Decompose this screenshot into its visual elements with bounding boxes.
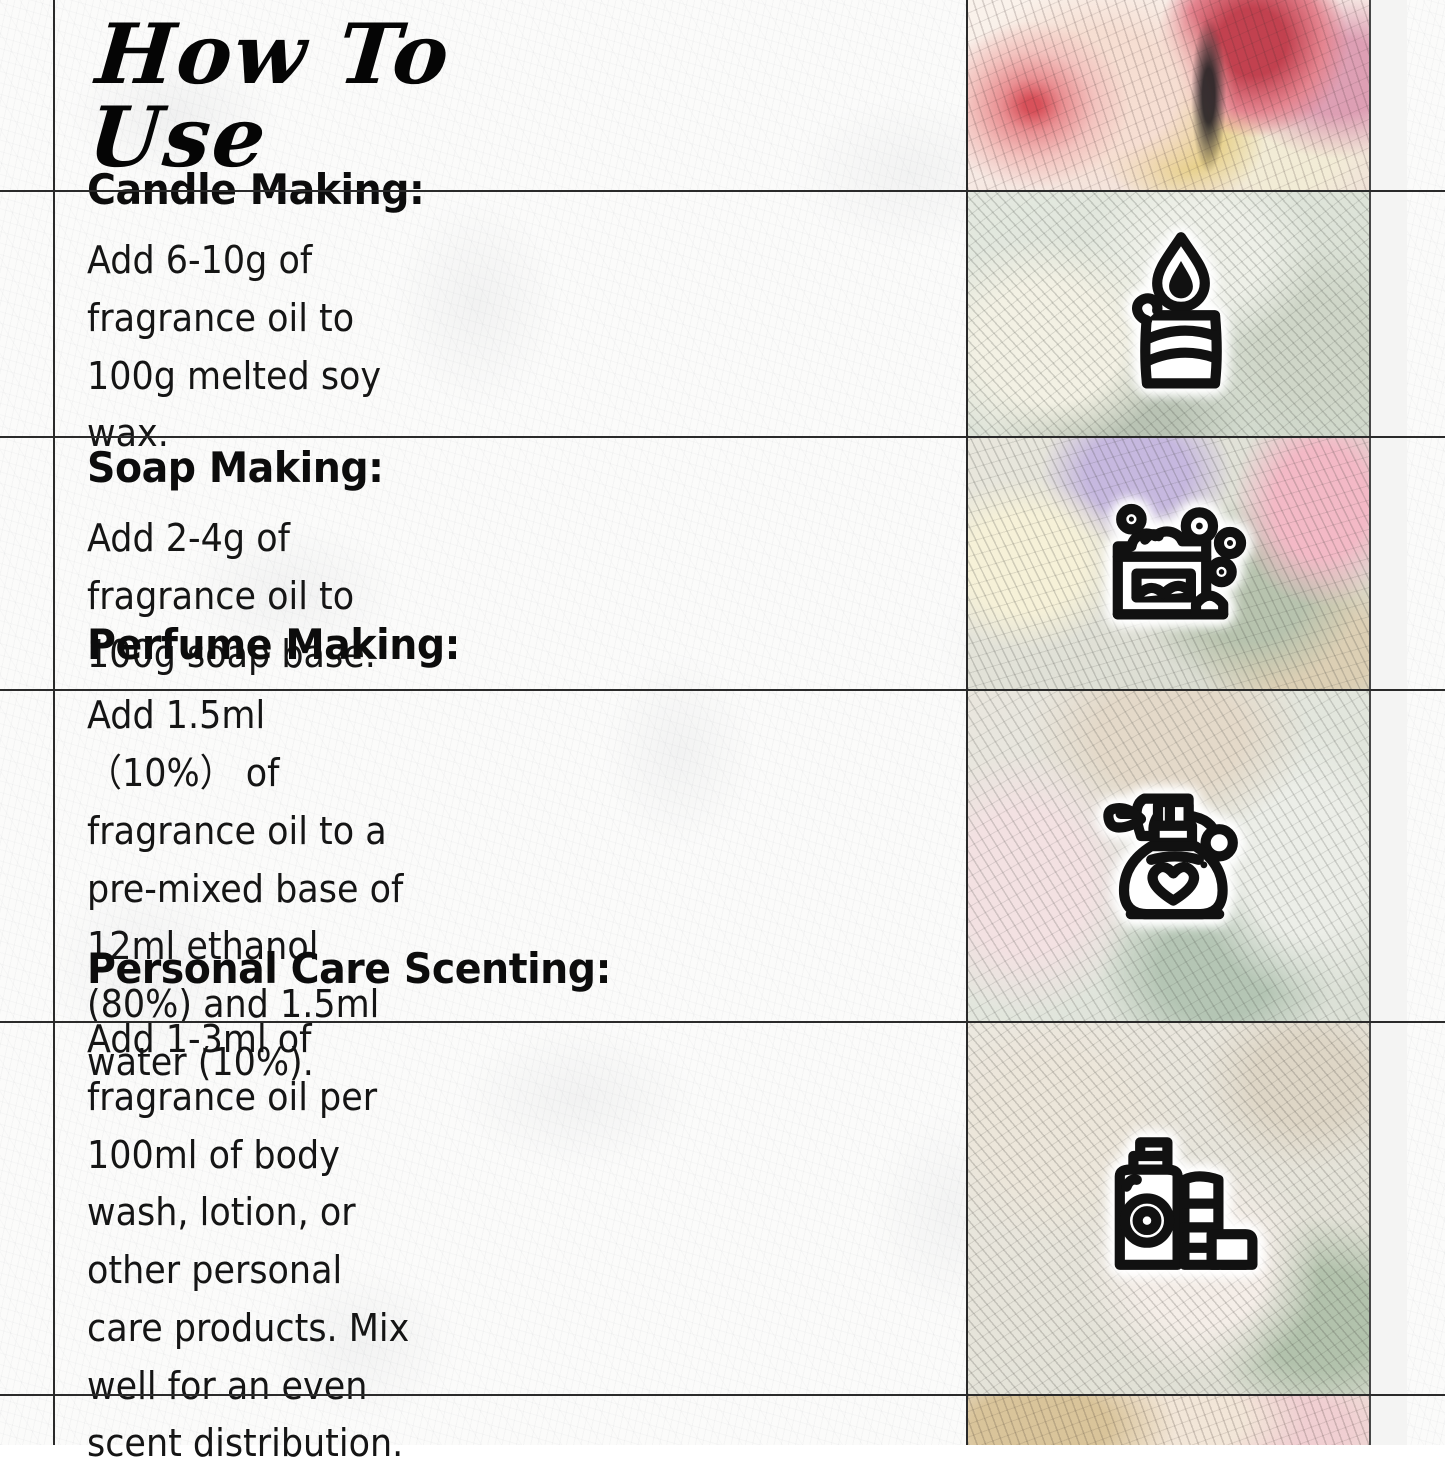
- divider-soap-bottom: [0, 689, 1445, 691]
- personal-care-scenting-text: Personal Care Scenting: Add 1-3ml of fra…: [53, 1022, 477, 1395]
- personal-care-bottles-icon: [1096, 1122, 1266, 1292]
- dried-petals-illustration: [968, 1395, 1407, 1445]
- soap-making-heading: Soap Making:: [87, 443, 427, 492]
- footer-image-cell: [968, 1395, 1407, 1445]
- perfume-image-cell: [968, 690, 1407, 1022]
- soap-bar-icon: [1094, 475, 1264, 645]
- page-title: How To Use: [86, 13, 457, 179]
- illustration-right-edge: [1369, 437, 1407, 690]
- candle-making-body: Add 6-10g of fragrance oil to 100g melte…: [87, 232, 420, 463]
- divider-perfume-bottom: [0, 1021, 1445, 1023]
- header-image-cell: [968, 0, 1407, 191]
- soap-image-cell: [968, 437, 1407, 690]
- header-title-cell: How To Use: [53, 0, 477, 191]
- perfume-making-heading: Perfume Making:: [87, 620, 427, 669]
- peony-and-leaves-illustration: [968, 1022, 1407, 1395]
- illustration-right-edge: [1369, 1395, 1407, 1445]
- illustration-right-edge: [1369, 1022, 1407, 1395]
- section-row-personal-care-scenting: Personal Care Scenting: Add 1-3ml of fra…: [0, 1022, 1445, 1395]
- footer-strip-row: [0, 1395, 1445, 1445]
- illustration-right-edge: [1369, 191, 1407, 437]
- divider-left-margin: [53, 0, 55, 1445]
- illustration-right-edge: [1369, 690, 1407, 1022]
- perfume-atomizer-icon: [1090, 768, 1260, 938]
- section-row-candle-making: Candle Making: Add 6-10g of fragrance oi…: [0, 191, 1445, 437]
- personal-care-image-cell: [968, 1022, 1407, 1395]
- lilac-and-berries-illustration: [968, 437, 1407, 690]
- roses-and-twine-illustration: [968, 0, 1407, 191]
- candle-image-cell: [968, 191, 1407, 437]
- illustration-canvas: [968, 1395, 1369, 1445]
- candle-icon: [1096, 227, 1266, 397]
- divider-text-image: [966, 0, 968, 1445]
- footer-text-cell: [53, 1395, 477, 1445]
- illustration-canvas: [968, 0, 1369, 191]
- illustration-right-edge: [1369, 0, 1407, 191]
- candle-making-text: Candle Making: Add 6-10g of fragrance oi…: [53, 191, 477, 437]
- header-row: How To Use: [0, 0, 1445, 191]
- personal-care-scenting-heading: Personal Care Scenting:: [87, 944, 427, 993]
- magnolia-and-lily-of-the-valley-illustration: [968, 690, 1407, 1022]
- divider-header-bottom: [0, 190, 1445, 192]
- divider-care-bottom: [0, 1394, 1445, 1396]
- divider-candle-bottom: [0, 436, 1445, 438]
- white-blossom-illustration: [968, 191, 1407, 437]
